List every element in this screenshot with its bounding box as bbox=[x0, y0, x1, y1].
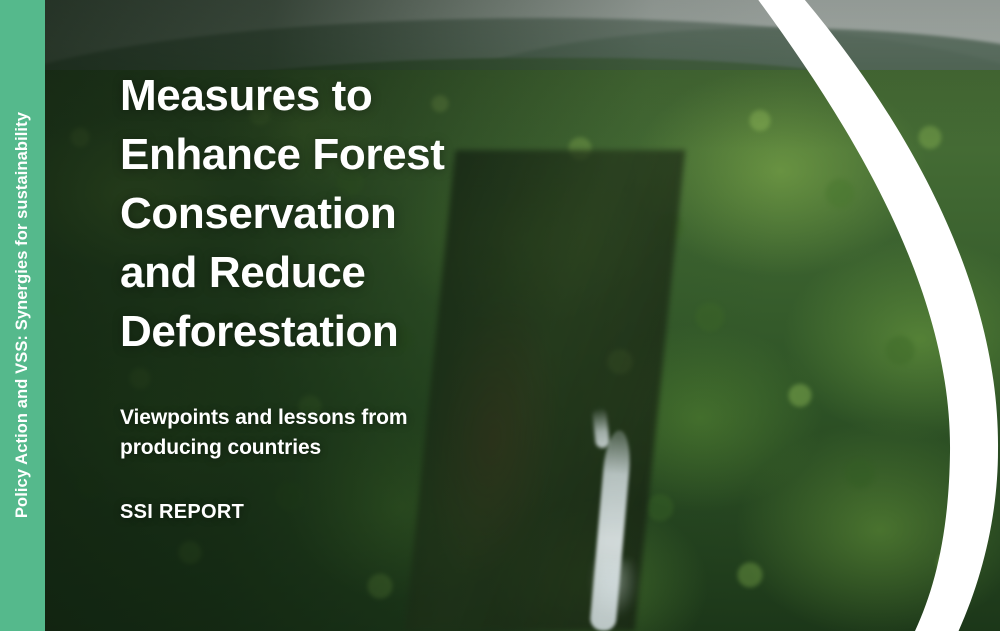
title-line-4: and Reduce bbox=[120, 243, 550, 302]
spine-series-label: Policy Action and VSS: Synergies for sus… bbox=[14, 112, 31, 518]
title-line-2: Enhance Forest bbox=[120, 125, 550, 184]
report-type-label: SSI REPORT bbox=[120, 501, 550, 524]
title-line-3: Conservation bbox=[120, 184, 550, 243]
subtitle-line-1: Viewpoints and lessons from bbox=[120, 403, 550, 433]
report-cover: Policy Action and VSS: Synergies for sus… bbox=[0, 0, 1000, 631]
page-title: Measures to Enhance Forest Conservation … bbox=[120, 66, 550, 361]
subtitle-line-2: producing countries bbox=[120, 433, 550, 463]
title-line-1: Measures to bbox=[120, 66, 550, 125]
page-subtitle: Viewpoints and lessons from producing co… bbox=[120, 403, 550, 463]
cover-text-block: Measures to Enhance Forest Conservation … bbox=[120, 66, 550, 524]
side-spine-banner: Policy Action and VSS: Synergies for sus… bbox=[0, 0, 45, 631]
title-line-5: Deforestation bbox=[120, 302, 550, 361]
